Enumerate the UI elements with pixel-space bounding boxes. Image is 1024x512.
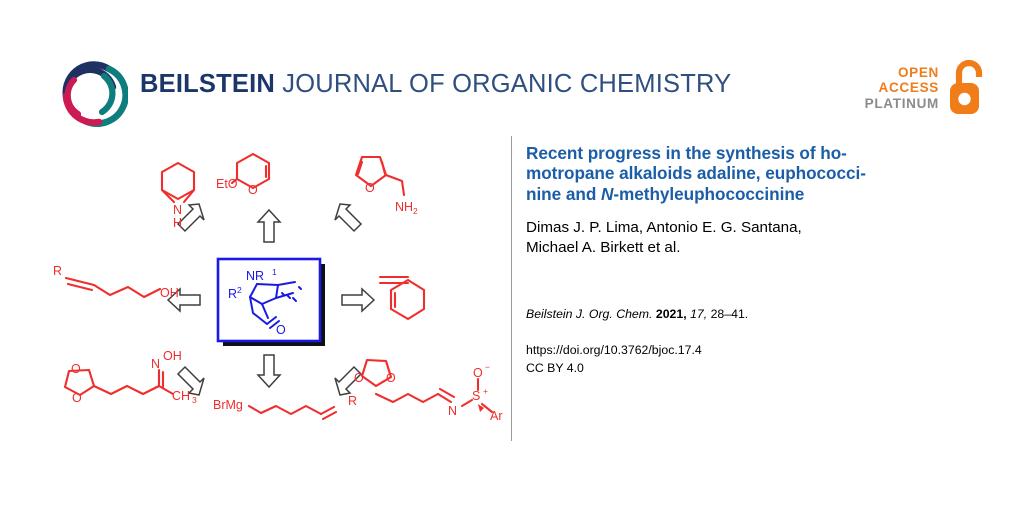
- arrow-up: [258, 210, 280, 242]
- beilstein-ring-logo-icon: [52, 52, 128, 128]
- sulfinimine-label-minus: −: [485, 362, 490, 372]
- journal-title-logo: BEILSTEIN JOURNAL OF ORGANIC CHEMISTRY: [140, 70, 731, 99]
- structure-alkenyl-grignard: BrMg: [213, 398, 336, 419]
- furan-label-o: O: [365, 181, 375, 195]
- dhp-label-eto: EtO: [216, 177, 238, 191]
- piperidine-label-h: H: [173, 216, 182, 230]
- arrow-down: [258, 355, 280, 387]
- core-scaffold-box: NR 1 R 2 O: [218, 259, 325, 346]
- journal-title-bold: BEILSTEIN: [140, 70, 275, 98]
- open-access-badge: OPEN ACCESS PLATINUM: [865, 52, 992, 124]
- article-authors: Dimas J. P. Lima, Antonio E. G. Santana,…: [526, 218, 956, 258]
- authors-line-2: Michael A. Birkett et al.: [526, 239, 680, 256]
- sulfinimine-label-plus: +: [483, 386, 488, 396]
- license-label: CC BY 4.0: [526, 359, 956, 377]
- column-divider: [511, 136, 512, 441]
- alkynol-label-oh: OH: [160, 286, 179, 300]
- sulfinimine-label-o: O: [473, 366, 483, 380]
- authors-line-1: Dimas J. P. Lima, Antonio E. G. Santana,: [526, 219, 802, 236]
- dioxolane2-label-r: R: [348, 394, 357, 408]
- article-info-column: Recent progress in the synthesis of ho- …: [526, 143, 956, 377]
- citation-pages: 28–41.: [711, 307, 749, 321]
- open-access-line1: OPEN: [898, 65, 939, 80]
- core-label-r: R: [228, 287, 237, 301]
- citation-volume: 17,: [690, 307, 707, 321]
- retrosynthesis-svg: .st { stroke:#ef2e2e; stroke-width:2.1; …: [10, 132, 505, 452]
- core-label-nr-sup: 1: [272, 267, 277, 277]
- furan-label-nh: NH: [395, 200, 413, 214]
- arrow-right: [342, 289, 374, 311]
- title-line-1: Recent progress in the synthesis of ho-: [526, 143, 847, 163]
- furan-label-nh2-sub: 2: [413, 206, 418, 216]
- sulfinimine-label-ar: Ar: [490, 409, 503, 423]
- article-citation: Beilstein J. Org. Chem. 2021, 17, 28–41.: [526, 305, 956, 323]
- dioxolane1-label-o2: O: [72, 391, 82, 405]
- dioxolane1-label-o1: O: [71, 362, 81, 376]
- article-title: Recent progress in the synthesis of ho- …: [526, 143, 956, 204]
- structure-dioxolane-sulfinimine: O O R N S + O − Ar: [348, 360, 503, 423]
- dhp-label-o: O: [248, 183, 258, 197]
- sulfinimine-label-s: S: [472, 389, 480, 403]
- doi-link[interactable]: https://doi.org/10.3762/bjoc.17.4: [526, 341, 956, 359]
- graphical-abstract-page: BEILSTEIN JOURNAL OF ORGANIC CHEMISTRY O…: [0, 0, 1024, 512]
- piperidine-label-n: N: [173, 203, 182, 217]
- sulfinimine-label-n: N: [448, 404, 457, 418]
- core-label-nr: NR: [246, 269, 264, 283]
- grignard-label-brmg: BrMg: [213, 398, 243, 412]
- structure-furfurylamine: O NH 2: [356, 157, 418, 216]
- open-access-line3: PLATINUM: [865, 96, 939, 111]
- title-line-3-italic: N: [601, 184, 613, 204]
- structure-ethoxy-dihydropyran: EtO O: [216, 154, 269, 197]
- open-padlock-icon: [946, 58, 992, 118]
- citation-year: 2021,: [656, 307, 687, 321]
- title-line-3-pre: nine and: [526, 184, 601, 204]
- oxime-label-oh: OH: [163, 349, 182, 363]
- open-access-line2: ACCESS: [879, 80, 939, 95]
- dioxolane2-label-o2: O: [386, 371, 396, 385]
- alkynol-label-r: R: [53, 264, 62, 278]
- oxime-label-ch3-sub: 3: [192, 395, 197, 405]
- oxime-label-n: N: [151, 357, 160, 371]
- core-label-r-sup: 2: [237, 285, 242, 295]
- retrosynthesis-scheme: .st { stroke:#ef2e2e; stroke-width:2.1; …: [10, 132, 505, 452]
- core-label-o: O: [276, 323, 286, 337]
- arrow-up-right: [335, 204, 361, 231]
- citation-journal: Beilstein J. Org. Chem.: [526, 307, 652, 321]
- article-doi-block: https://doi.org/10.3762/bjoc.17.4 CC BY …: [526, 341, 956, 377]
- dioxolane2-label-o1: O: [354, 371, 364, 385]
- structure-alkynol: R OH: [53, 264, 179, 300]
- title-line-3-post: -methyleuphococcinine: [613, 184, 804, 204]
- page-header: BEILSTEIN JOURNAL OF ORGANIC CHEMISTRY O…: [0, 0, 1024, 135]
- oxime-label-ch3: CH: [172, 389, 190, 403]
- structure-dioxolane-oxime: O O N OH CH 3: [65, 349, 197, 405]
- title-line-2: motropane alkaloids adaline, euphococci-: [526, 163, 866, 183]
- journal-title-rest: JOURNAL OF ORGANIC CHEMISTRY: [275, 70, 731, 98]
- structure-terminal-alkyne-chain: [380, 277, 424, 319]
